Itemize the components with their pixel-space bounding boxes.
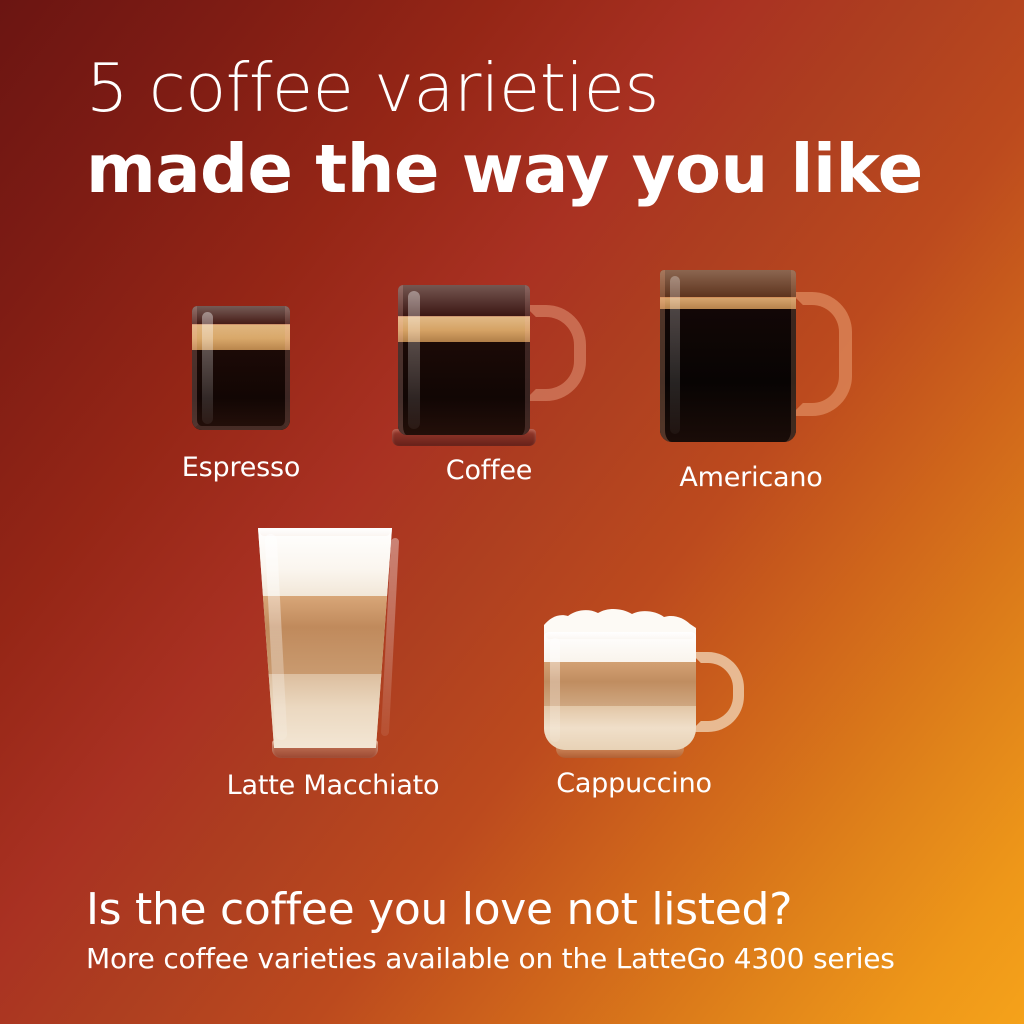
americano-mug-body [660,270,796,442]
drink-item-americano: Americano [648,270,854,505]
drink-item-espresso: Espresso [178,306,304,506]
drink-label-cappuccino: Cappuccino [556,768,712,799]
headline-line-2: made the way you like [86,128,986,210]
page-title: 5 coffee varieties made the way you like [86,48,986,210]
cappuccino-cup-handle [690,652,744,732]
drink-label-latte-macchiato: Latte Macchiato [227,770,440,801]
headline-line-1: 5 coffee varieties [86,48,986,128]
drink-item-cappuccino: Cappuccino [534,608,734,828]
latte-rim-line [260,528,390,536]
drink-label-americano: Americano [679,462,822,493]
americano-coffee-liquid [660,309,796,442]
footer-note: More coffee varieties available on the L… [86,938,986,980]
coffee-mug-handle [524,305,586,401]
americano-rim-band [660,270,796,298]
drink-label-coffee: Coffee [446,455,532,486]
footer-question: Is the coffee you love not listed? [86,882,986,938]
coffee-highlight [408,291,420,429]
americano-crema-layer [660,297,796,309]
drink-item-latte-macchiato: Latte Macchiato [258,528,408,828]
americano-mug-handle [790,292,852,416]
espresso-highlight [202,312,213,424]
promo-poster: 5 coffee varieties made the way you like… [0,0,1024,1024]
cappuccino-milk-layer [544,706,696,750]
cappuccino-cup-body [544,632,696,750]
cappuccino-rim-line [546,632,694,639]
cappuccino-highlight [550,638,560,742]
americano-highlight [670,276,680,434]
footer-text-block: Is the coffee you love not listed? More … [86,882,986,980]
drink-item-coffee: Coffee [386,285,592,505]
drink-label-espresso: Espresso [182,452,300,483]
cappuccino-coffee-layer [544,662,696,706]
